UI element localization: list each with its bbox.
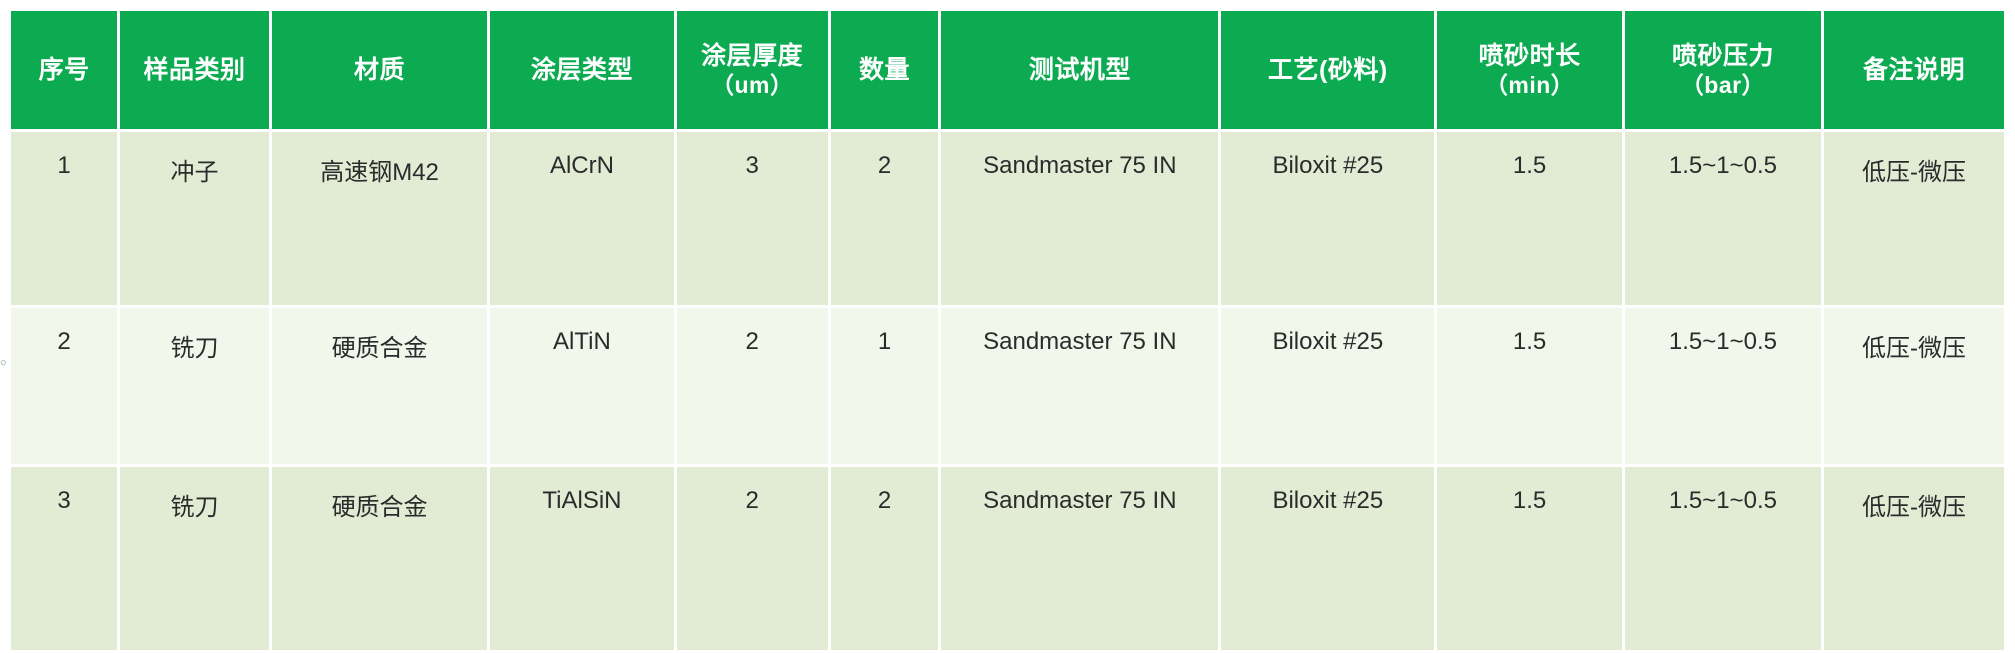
- cell-thickness: 2: [677, 308, 831, 467]
- column-header-machine-label: 测试机型: [1029, 56, 1131, 84]
- cell-note: 低压-微压: [1824, 308, 2004, 467]
- cell-pressure: 1.5~1~0.5: [1625, 467, 1824, 653]
- cell-blast-time: 1.5: [1437, 308, 1625, 467]
- cell-note: 低压-微压: [1824, 467, 2004, 653]
- cell-thickness: 2: [677, 467, 831, 653]
- column-header-thickness-label: 涂层厚度: [701, 42, 803, 70]
- cell-machine: Sandmaster 75 IN: [941, 467, 1221, 653]
- column-header-note-label: 备注说明: [1863, 56, 1965, 84]
- cell-material: 高速钢M42: [272, 132, 490, 308]
- column-header-coating-label: 涂层类型: [531, 56, 633, 84]
- cell-thickness: 3: [677, 132, 831, 308]
- column-header-blast-time: 喷砂时长 （min）: [1437, 11, 1625, 132]
- table-row: 2 铣刀 硬质合金 AlTiN 2 1 Sandmaster 75 IN Bil…: [11, 308, 2004, 467]
- cell-index: 2: [11, 308, 120, 467]
- spec-table-container: 序号 样品类别 材质 涂层类型 涂层厚度 （um） 数量: [11, 11, 2004, 637]
- column-header-quantity: 数量: [831, 11, 942, 132]
- cell-category: 铣刀: [120, 308, 272, 467]
- column-header-blast-time-label: 喷砂时长: [1479, 42, 1581, 70]
- cell-machine: Sandmaster 75 IN: [941, 132, 1221, 308]
- cell-category: 冲子: [120, 132, 272, 308]
- column-header-material-label: 材质: [354, 56, 405, 84]
- column-header-blast-time-unit: （min）: [1439, 71, 1620, 99]
- cell-process: Biloxit #25: [1221, 132, 1437, 308]
- column-header-index: 序号: [11, 11, 120, 132]
- clipped-edge-glyph: 。: [0, 352, 7, 378]
- column-header-note: 备注说明: [1824, 11, 2004, 132]
- cell-coating: AlCrN: [490, 132, 676, 308]
- column-header-thickness-unit: （um）: [679, 71, 826, 99]
- cell-coating: TiAlSiN: [490, 467, 676, 653]
- column-header-pressure-unit: （bar）: [1627, 71, 1819, 99]
- cell-category: 铣刀: [120, 467, 272, 653]
- cell-quantity: 2: [831, 132, 942, 308]
- column-header-category: 样品类别: [120, 11, 272, 132]
- header-row: 序号 样品类别 材质 涂层类型 涂层厚度 （um） 数量: [11, 11, 2004, 132]
- cell-machine: Sandmaster 75 IN: [941, 308, 1221, 467]
- column-header-pressure: 喷砂压力 （bar）: [1625, 11, 1824, 132]
- column-header-thickness: 涂层厚度 （um）: [677, 11, 831, 132]
- cell-quantity: 1: [831, 308, 942, 467]
- cell-blast-time: 1.5: [1437, 467, 1625, 653]
- cell-quantity: 2: [831, 467, 942, 653]
- sample-test-parameters-table: 序号 样品类别 材质 涂层类型 涂层厚度 （um） 数量: [11, 11, 2004, 653]
- column-header-index-label: 序号: [39, 56, 90, 84]
- cell-pressure: 1.5~1~0.5: [1625, 132, 1824, 308]
- cell-index: 1: [11, 132, 120, 308]
- table-row: 3 铣刀 硬质合金 TiAlSiN 2 2 Sandmaster 75 IN B…: [11, 467, 2004, 653]
- cell-blast-time: 1.5: [1437, 132, 1625, 308]
- cell-note: 低压-微压: [1824, 132, 2004, 308]
- table-header: 序号 样品类别 材质 涂层类型 涂层厚度 （um） 数量: [11, 11, 2004, 132]
- cell-material: 硬质合金: [272, 308, 490, 467]
- column-header-machine: 测试机型: [941, 11, 1221, 132]
- column-header-category-label: 样品类别: [144, 56, 246, 84]
- cell-coating: AlTiN: [490, 308, 676, 467]
- cell-process: Biloxit #25: [1221, 308, 1437, 467]
- cell-pressure: 1.5~1~0.5: [1625, 308, 1824, 467]
- table-body: 1 冲子 高速钢M42 AlCrN 3 2 Sandmaster 75 IN B…: [11, 132, 2004, 653]
- column-header-material: 材质: [272, 11, 490, 132]
- table-row: 1 冲子 高速钢M42 AlCrN 3 2 Sandmaster 75 IN B…: [11, 132, 2004, 308]
- column-header-pressure-label: 喷砂压力: [1672, 42, 1774, 70]
- cell-index: 3: [11, 467, 120, 653]
- column-header-coating: 涂层类型: [490, 11, 676, 132]
- cell-material: 硬质合金: [272, 467, 490, 653]
- column-header-process-label: 工艺(砂料): [1268, 56, 1388, 84]
- column-header-process: 工艺(砂料): [1221, 11, 1437, 132]
- column-header-quantity-label: 数量: [859, 56, 910, 84]
- cell-process: Biloxit #25: [1221, 467, 1437, 653]
